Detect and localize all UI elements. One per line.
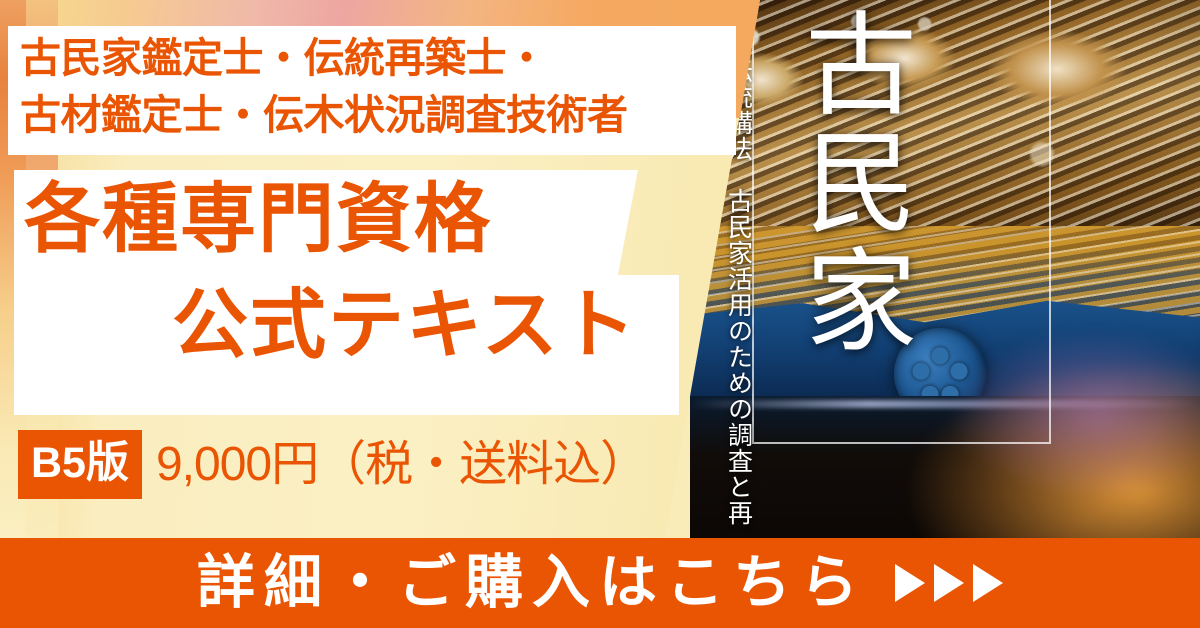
triangle-right-icon [934,564,964,602]
headline-line-2: 公式テキスト [172,288,638,364]
kicker-line-1: 古民家鑑定士・伝統再築士・ [16,30,732,87]
price-row: B5版 9,000円（税・送料込） [18,430,647,499]
cover-title: 古民家 [774,6,914,360]
kicker-line-2: 古材鑑定士・伝木状況調査技術者 [16,87,732,144]
triangle-right-icon [895,564,925,602]
price-text: 9,000円（税・送料込） [156,441,647,489]
cta-label: 詳細・ご購入はこちら [197,554,867,612]
promo-banner: 古民家 伝統構法 古民家活用のための調査と再生の 古民家鑑定士・伝統再築士・ 古… [0,0,1200,628]
cta-arrows [895,564,1003,602]
cta-bar[interactable]: 詳細・ご購入はこちら [0,538,1200,628]
format-badge: B5版 [18,430,142,499]
headline-line-1: 各種専門資格 [24,182,492,258]
triangle-right-icon [973,564,1003,602]
kicker-text: 古民家鑑定士・伝統再築士・ 古材鑑定士・伝木状況調査技術者 [16,30,732,143]
book-cover-image: 古民家 伝統構法 古民家活用のための調査と再生の [690,0,1200,566]
